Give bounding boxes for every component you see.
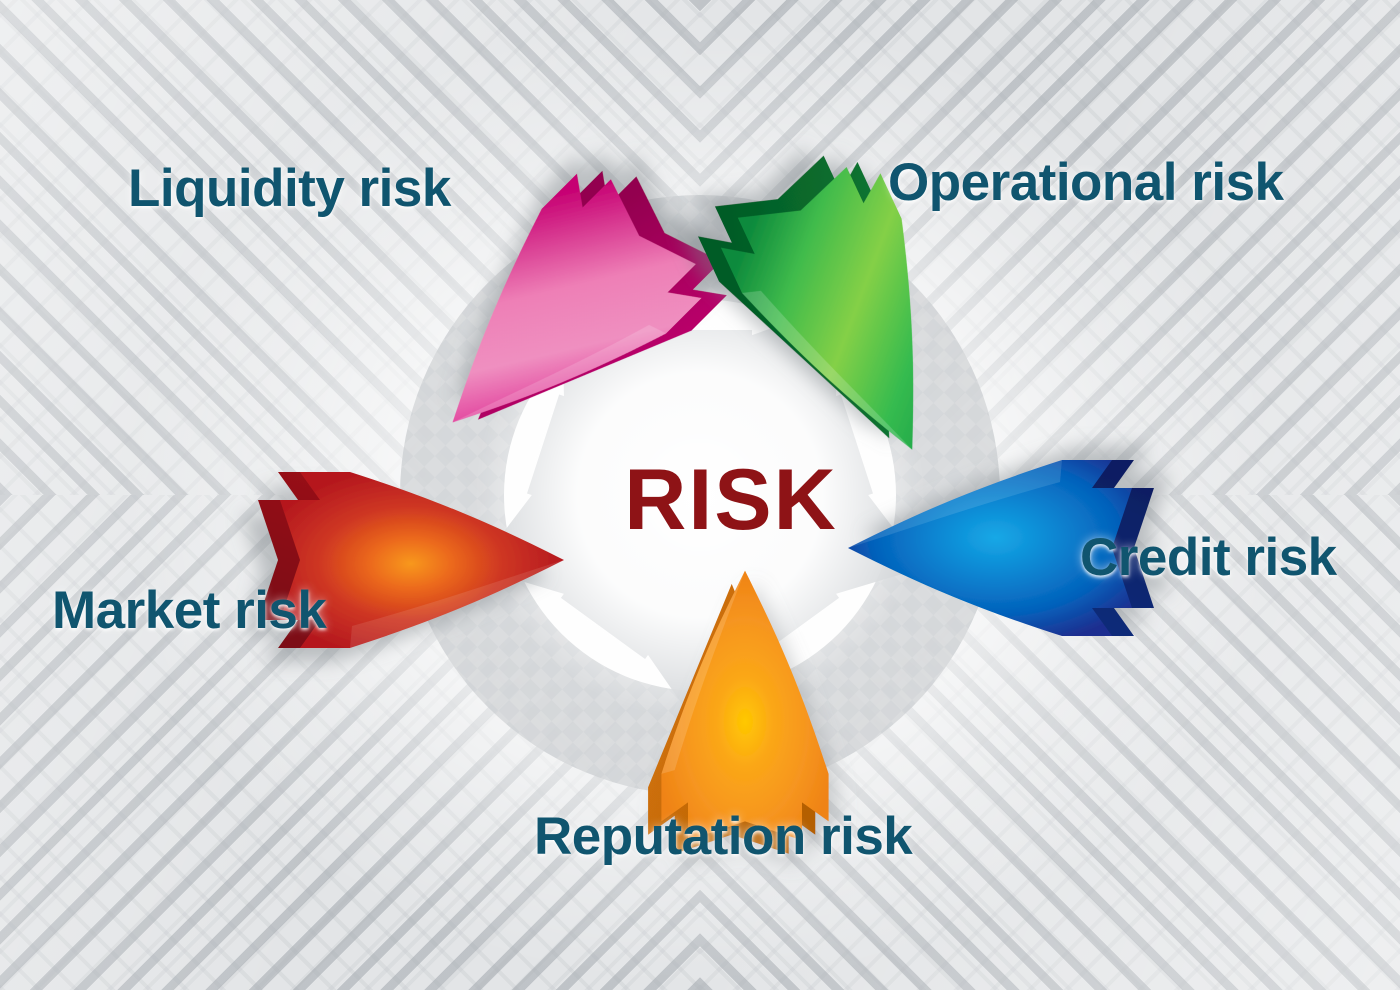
center-risk-label: RISK bbox=[624, 452, 837, 548]
label-market-risk: Market risk bbox=[52, 580, 326, 641]
label-credit-risk: Credit risk bbox=[1080, 527, 1337, 588]
risk-diagram-canvas: RISK Liquidity risk Operational risk Cre… bbox=[0, 0, 1400, 990]
label-operational-risk: Operational risk bbox=[888, 152, 1284, 213]
label-reputation-risk: Reputation risk bbox=[534, 806, 912, 867]
label-liquidity-risk: Liquidity risk bbox=[128, 158, 451, 219]
